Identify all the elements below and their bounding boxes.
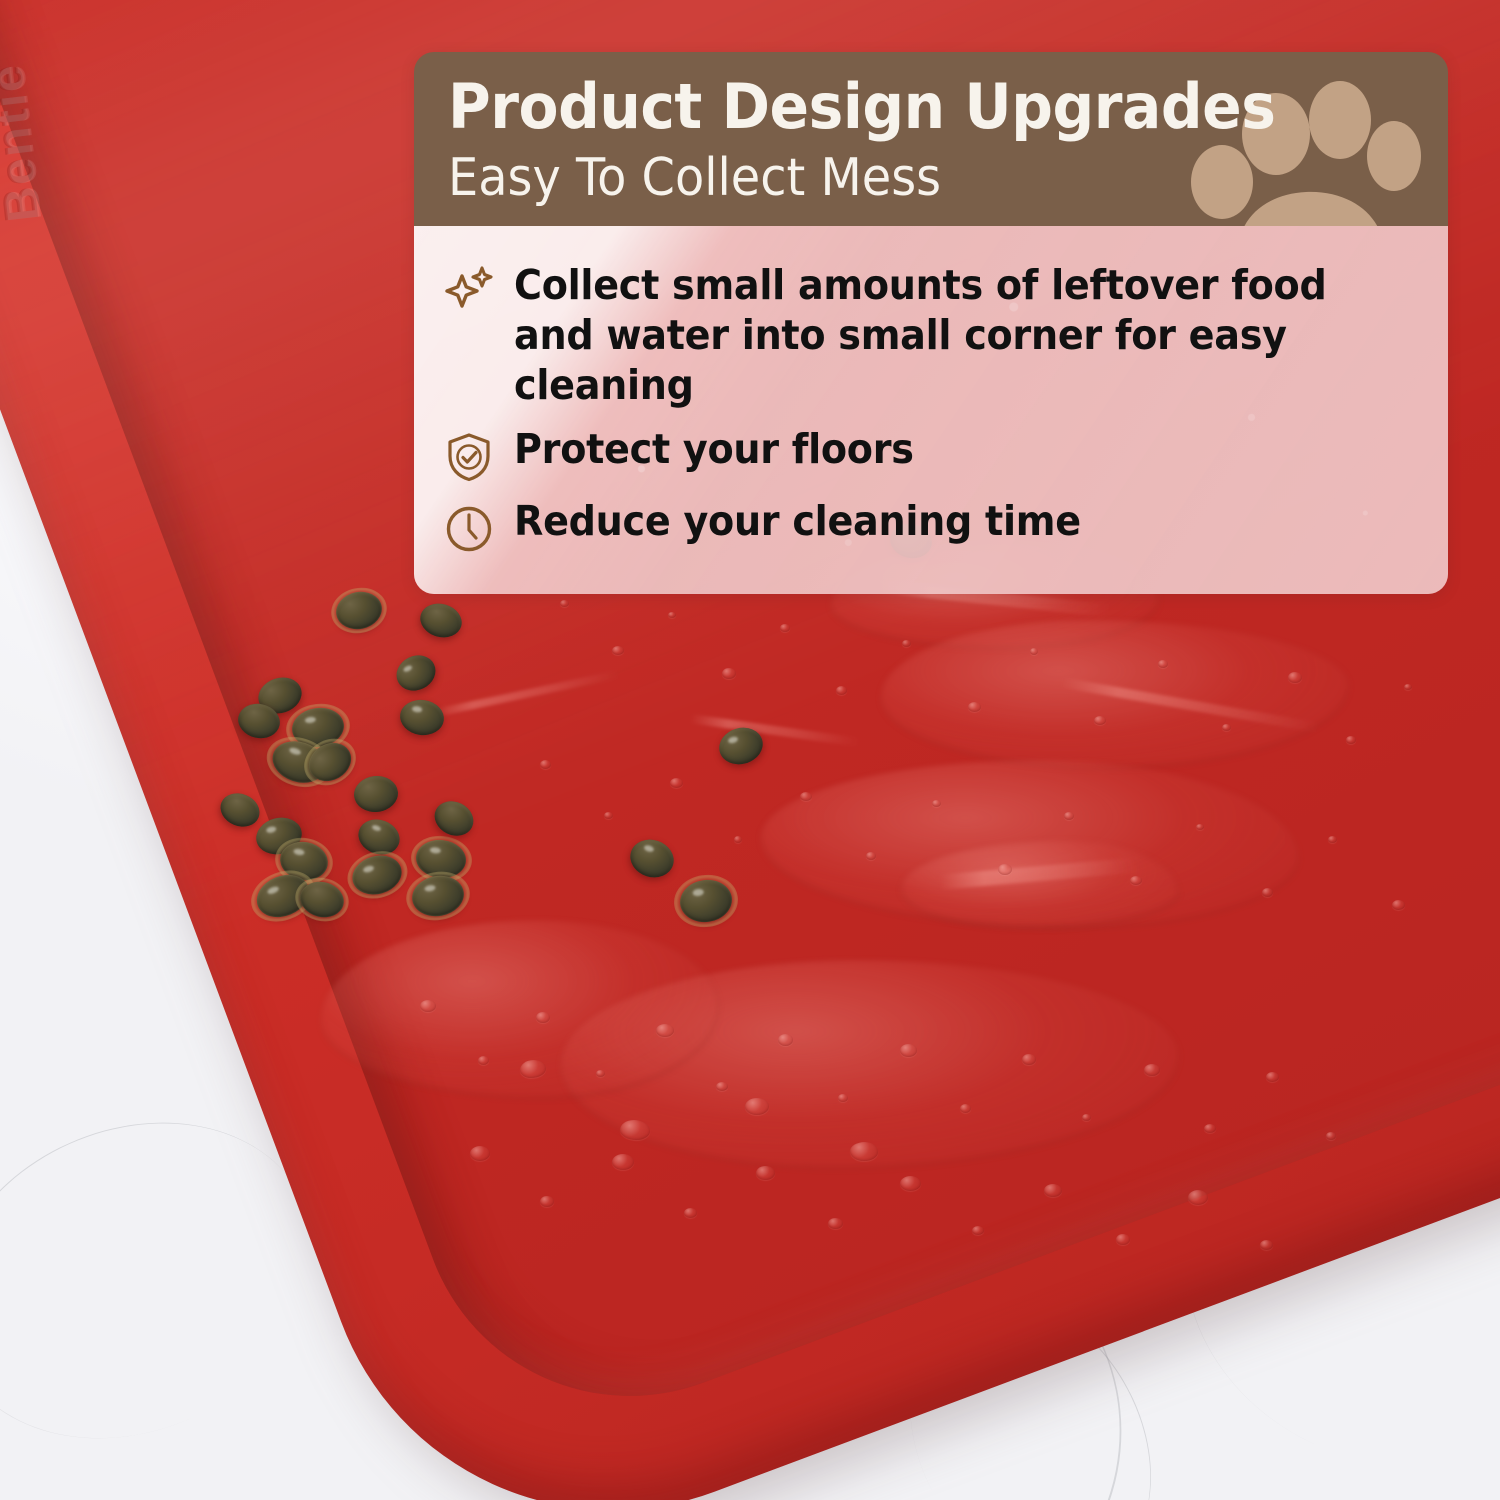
card-header: Product Design Upgrades Easy To Collect … xyxy=(414,52,1448,226)
shield-check-icon xyxy=(444,432,494,482)
feature-item: Collect small amounts of leftover food a… xyxy=(444,260,1422,410)
feature-item: Protect your floors xyxy=(444,424,1422,482)
feature-item: Reduce your cleaning time xyxy=(444,496,1422,554)
feature-label: Reduce your cleaning time xyxy=(514,496,1081,546)
card-body: Collect small amounts of leftover food a… xyxy=(414,226,1448,594)
feature-label: Protect your floors xyxy=(514,424,914,474)
sparkle-icon xyxy=(444,264,494,314)
card-subtitle: Easy To Collect Mess xyxy=(448,151,1337,206)
card-title: Product Design Upgrades xyxy=(448,74,1356,139)
feature-card: Product Design Upgrades Easy To Collect … xyxy=(414,52,1448,594)
clock-icon xyxy=(444,504,494,554)
product-marketing-image: Bentie xyxy=(0,0,1500,1500)
feature-label: Collect small amounts of leftover food a… xyxy=(514,260,1358,410)
